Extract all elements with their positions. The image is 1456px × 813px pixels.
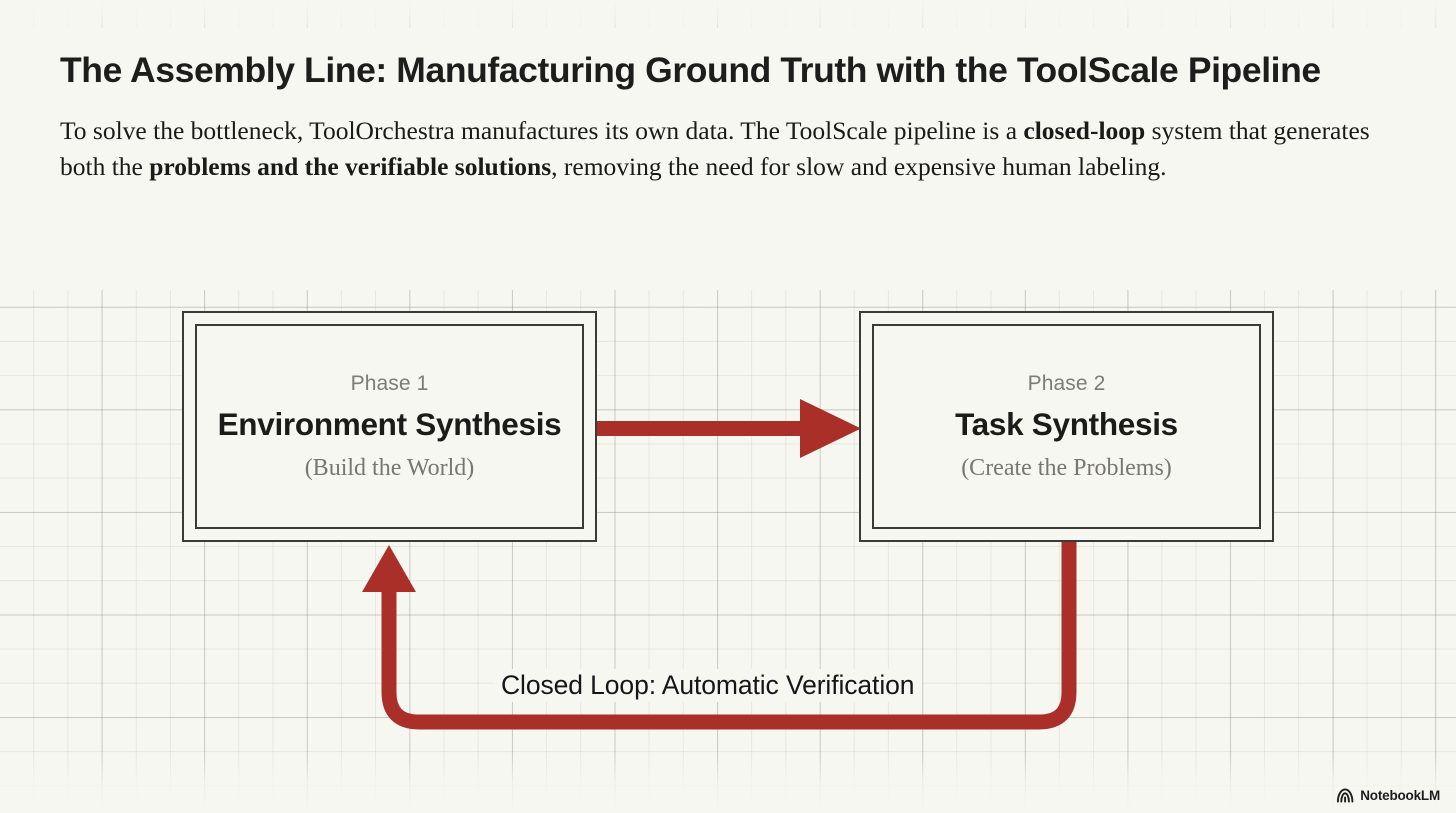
forward-arrow: [597, 399, 861, 458]
notebooklm-watermark: NotebookLM: [1337, 788, 1440, 803]
phase2-kicker: Phase 2: [1028, 373, 1106, 394]
page-title: The Assembly Line: Manufacturing Ground …: [60, 50, 1400, 91]
notebooklm-spiral-icon: [1337, 788, 1354, 803]
intro-paragraph: To solve the bottleneck, ToolOrchestra m…: [60, 113, 1380, 184]
bottom-gradient-fade: [0, 755, 1456, 813]
notebooklm-watermark-label: NotebookLM: [1360, 788, 1440, 803]
intro-text-part1: To solve the bottleneck, ToolOrchestra m…: [60, 116, 1023, 145]
phase2-title: Task Synthesis: [955, 409, 1178, 441]
phase1-title: Environment Synthesis: [218, 409, 562, 441]
phase-node-phase2-inner-frame: Phase 2 Task Synthesis (Create the Probl…: [872, 324, 1261, 529]
top-gradient-fade: [0, 0, 1456, 40]
header-block: The Assembly Line: Manufacturing Ground …: [60, 50, 1400, 184]
phase-node-phase1-inner-frame: Phase 1 Environment Synthesis (Build the…: [195, 324, 584, 529]
feedback-loop-label: Closed Loop: Automatic Verification: [493, 669, 922, 702]
intro-emphasis-closed-loop: closed-loop: [1023, 116, 1145, 145]
slide-canvas: The Assembly Line: Manufacturing Ground …: [0, 0, 1456, 813]
phase-node-phase1[interactable]: Phase 1 Environment Synthesis (Build the…: [182, 311, 597, 542]
phase1-kicker: Phase 1: [351, 373, 429, 394]
intro-text-part3: , removing the need for slow and expensi…: [551, 152, 1166, 181]
intro-emphasis-problems-solutions: problems and the verifiable solutions: [149, 152, 551, 181]
phase-node-phase2[interactable]: Phase 2 Task Synthesis (Create the Probl…: [859, 311, 1274, 542]
phase2-subtitle: (Create the Problems): [961, 456, 1172, 480]
phase1-subtitle: (Build the World): [305, 456, 475, 480]
